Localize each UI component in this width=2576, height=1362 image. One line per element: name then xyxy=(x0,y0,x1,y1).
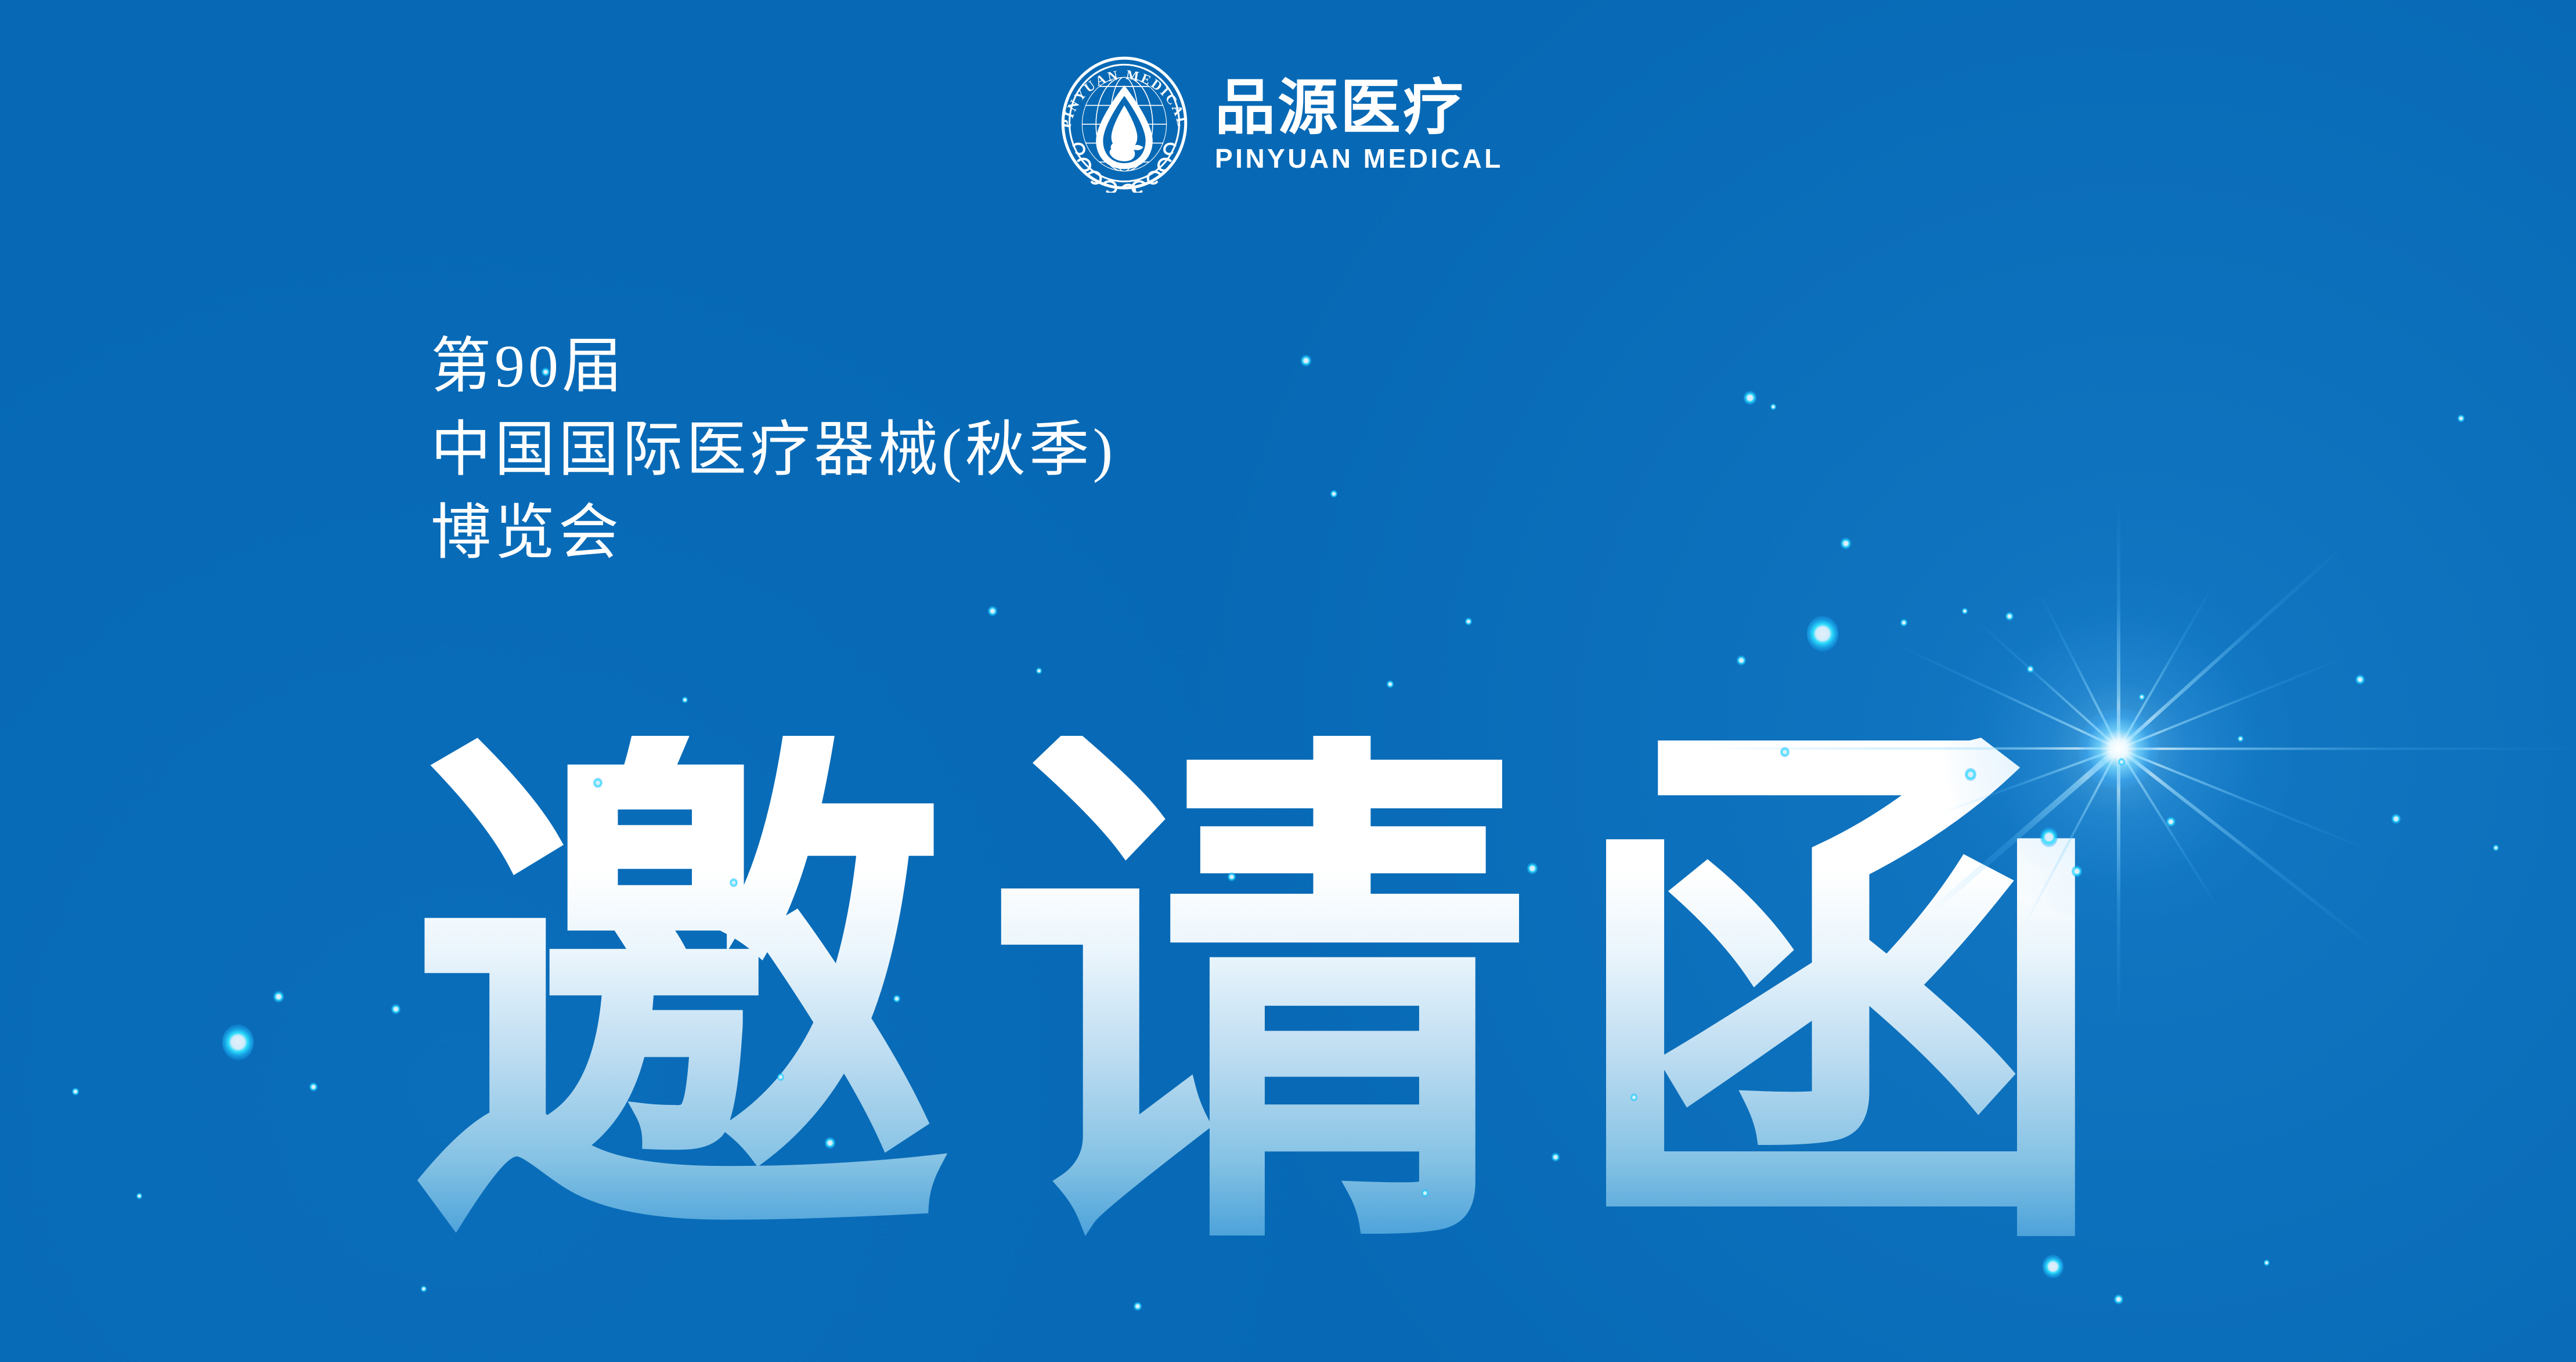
event-title-line-2: 中国国际医疗器械(秋季) xyxy=(431,409,1116,492)
sparkle-dot xyxy=(2355,674,2365,685)
sparkle-dot xyxy=(2005,612,2014,621)
sparkle-dot xyxy=(1330,490,1337,498)
event-title-block: 第90届 中国国际医疗器械(秋季) 博览会 xyxy=(431,325,1116,575)
flare-ray xyxy=(2117,747,2376,950)
flare-ray xyxy=(2117,749,2120,1021)
sparkle-dot xyxy=(2114,1294,2123,1305)
sparkle-dot xyxy=(136,1193,142,1200)
sparkle-dot xyxy=(2118,758,2125,766)
sparkle-dot xyxy=(1737,655,1746,666)
invitation-poster: PINYUAN MEDICAL xyxy=(0,0,2576,1362)
sparkle-dot xyxy=(2391,814,2401,824)
flare-ray xyxy=(2117,545,2344,750)
headline-char-3: 函 xyxy=(1567,736,2113,1254)
headline-char-1: 邀 xyxy=(406,736,952,1254)
flare-ray xyxy=(2118,748,2221,912)
sparkle-dot xyxy=(2166,817,2175,827)
sparkle-dot xyxy=(1770,403,1776,410)
sparkle-dot xyxy=(421,1285,427,1292)
pinyuan-medical-seal-emblem: PINYUAN MEDICAL xyxy=(1054,51,1195,193)
event-title-line-3: 博览会 xyxy=(431,492,1116,575)
sparkle-dot xyxy=(893,995,900,1003)
sparkle-dot xyxy=(1841,537,1851,550)
sparkle-dot xyxy=(1807,616,1838,652)
headline-char-2: 请 xyxy=(987,736,1532,1254)
sparkle-dot xyxy=(825,1137,835,1149)
flare-ray xyxy=(2118,747,2372,851)
sparkle-dot xyxy=(1301,355,1311,367)
brand-name-cn: 品源医疗 xyxy=(1215,78,1503,138)
sparkle-dot xyxy=(542,367,550,377)
sparkle-dot xyxy=(1228,872,1236,881)
brand-wordmark: 品源医疗 PINYUAN MEDICAL xyxy=(1215,72,1503,172)
sparkle-dot xyxy=(2264,1259,2270,1266)
sparkle-dot xyxy=(309,1082,318,1092)
flare-ray xyxy=(2117,582,2215,749)
sparkle-dot xyxy=(1422,1189,1428,1197)
sparkle-dot xyxy=(391,1004,401,1014)
event-title-line-1: 第90届 xyxy=(431,325,1116,409)
sparkle-dot xyxy=(273,991,284,1003)
sparkle-dot xyxy=(2238,735,2243,742)
sparkle-dot xyxy=(1552,1153,1560,1162)
flare-ray xyxy=(2117,499,2120,749)
sparkle-dot xyxy=(1134,1302,1142,1311)
brand-logo-lockup: PINYUAN MEDICAL xyxy=(1054,51,1503,193)
sparkle-dot xyxy=(2027,665,2034,673)
sparkle-dot xyxy=(1036,667,1042,674)
sparkle-dot xyxy=(1630,1093,1637,1101)
sparkle-dot xyxy=(1465,617,1472,626)
sparkle-dot xyxy=(2493,844,2499,851)
flare-ray xyxy=(2118,656,2345,750)
sparkle-dot xyxy=(682,696,688,703)
sparkle-dot xyxy=(777,1073,784,1081)
sparkle-dot xyxy=(1900,619,1907,627)
sparkle-dot xyxy=(730,878,738,887)
sparkle-dot xyxy=(1965,768,1976,781)
sparkle-dot xyxy=(222,1024,254,1060)
sparkle-dot xyxy=(1962,608,1968,615)
flare-ray xyxy=(2119,747,2571,750)
sparkle-dot xyxy=(2139,693,2145,700)
sparkle-dot xyxy=(988,606,997,616)
sparkle-dot xyxy=(1527,862,1538,875)
sparkle-dot xyxy=(2072,865,2082,877)
sparkle-dot xyxy=(1744,391,1756,405)
sparkle-dot xyxy=(2040,827,2058,847)
sparkle-dot xyxy=(72,1088,79,1096)
sparkle-dot xyxy=(1387,680,1394,688)
sparkle-dot xyxy=(2458,414,2465,422)
headline-invitation: 邀 请 函 xyxy=(406,736,2113,1254)
sparkle-dot xyxy=(2043,1255,2063,1278)
brand-name-en: PINYUAN MEDICAL xyxy=(1215,145,1503,172)
